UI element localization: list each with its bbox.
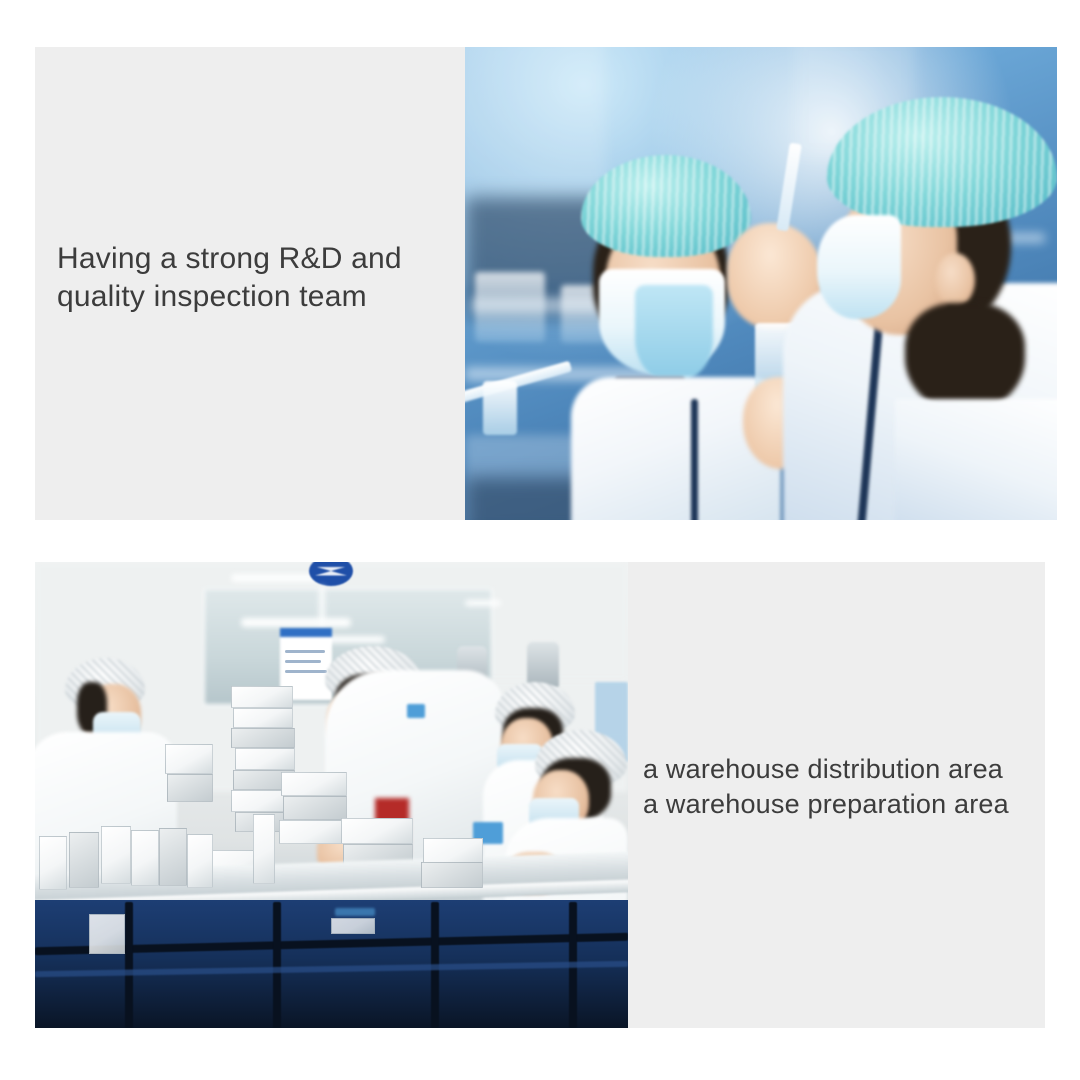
notice-line-1	[285, 650, 325, 653]
technician-2-shoulder	[895, 399, 1057, 520]
carton	[281, 772, 347, 796]
lab-team-photo	[465, 47, 1057, 520]
carton-tall	[131, 830, 159, 886]
technician-1-mask-blue	[635, 285, 713, 381]
notice-line-3	[285, 670, 327, 673]
carton	[279, 820, 347, 844]
bottom-caption: a warehouse distribution area a warehous…	[643, 752, 1043, 822]
carton	[165, 744, 213, 774]
floor-item	[331, 918, 375, 934]
ceiling-light-4	[465, 600, 501, 606]
carton	[231, 728, 295, 748]
carton	[167, 774, 213, 802]
notice-line-2	[285, 660, 321, 663]
technician-2-nape-hair	[905, 303, 1025, 413]
floor-marker	[335, 908, 375, 916]
carton-tall	[69, 832, 99, 888]
lab-glassware-left	[475, 272, 545, 342]
table-leg-1	[125, 902, 133, 1028]
worker-2-badge	[407, 704, 425, 718]
technician-2-mask	[817, 215, 901, 319]
technician-2-ear	[935, 253, 975, 307]
carton	[341, 818, 413, 844]
carton-tall	[101, 826, 131, 884]
warehouse-photo	[35, 562, 628, 1028]
carton-tall	[159, 828, 187, 886]
slide-canvas: Having a strong R&D and quality inspecti…	[0, 0, 1080, 1080]
carton-tall	[39, 836, 67, 890]
sample-beaker	[483, 381, 517, 435]
carton	[231, 686, 293, 708]
carton	[235, 748, 295, 770]
carton-tall	[187, 834, 213, 888]
ceiling-light-1	[231, 574, 321, 582]
floor-paper	[89, 914, 125, 954]
technician-1-coat-trim	[691, 399, 698, 520]
table-leg-2	[273, 902, 281, 1028]
carton-bottle	[253, 814, 275, 884]
carton	[283, 796, 347, 820]
top-caption: Having a strong R&D and quality inspecti…	[57, 240, 457, 316]
carton	[421, 862, 483, 888]
ceiling-light-2	[241, 618, 351, 627]
logo-drop-line	[319, 586, 325, 626]
carton	[233, 708, 293, 728]
